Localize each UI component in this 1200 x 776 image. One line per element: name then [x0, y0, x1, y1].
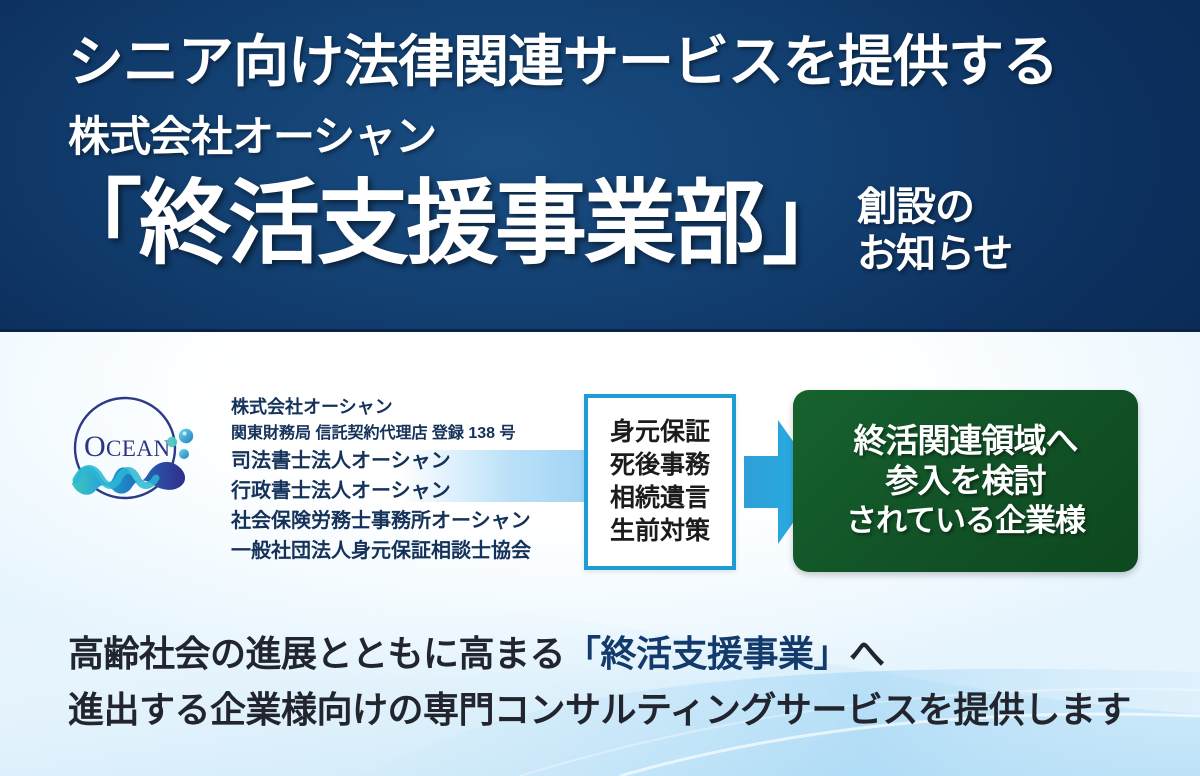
header-title-row: 「終活支援事業部」 創設の お知らせ — [50, 172, 1012, 278]
header-title-main: 「終活支援事業部」 — [50, 172, 851, 276]
services-box: 身元保証 死後事務 相続遺言 生前対策 — [584, 394, 736, 570]
service-item-postmortem: 死後事務 — [610, 449, 710, 482]
service-item-guarantee: 身元保証 — [610, 416, 710, 449]
ocean-logo-mark: O CEAN — [62, 392, 202, 507]
header-band: シニア向け法律関連サービスを提供する 株式会社オーシャン 「終活支援事業部」 創… — [0, 0, 1200, 332]
header-line-1: シニア向け法律関連サービスを提供する — [68, 30, 1058, 94]
ocean-logo: O CEAN — [62, 392, 202, 507]
svg-text:O: O — [84, 430, 106, 463]
org-line-association: 一般社団法人身元保証相談士協会 — [231, 536, 531, 566]
header-title-side: 創設の お知らせ — [857, 184, 1012, 278]
organization-list: 株式会社オーシャン 関東財務局 信託契約代理店 登録 138 号 司法書士法人オ… — [231, 394, 531, 566]
header-line-2-company: 株式会社オーシャン — [68, 112, 436, 162]
org-line-registration: 関東財務局 信託契約代理店 登録 138 号 — [231, 421, 531, 446]
target-audience-box: 終活関連領域へ 参入を検討 されている企業様 — [793, 390, 1138, 572]
service-item-inheritance: 相続遺言 — [610, 482, 710, 515]
bottom-line-1: 高齢社会の進展とともに高まる「終活支援事業」へ — [68, 626, 1188, 682]
bottom-line-1-part-a: 高齢社会の進展とともに高まる — [68, 633, 565, 674]
target-line-2: 参入を検討 — [886, 461, 1046, 501]
org-line-judicial-scrivener: 司法書士法人オーシャン — [231, 446, 531, 476]
bottom-line-1-highlight: 「終活支援事業」 — [565, 633, 849, 674]
press-release-banner: シニア向け法律関連サービスを提供する 株式会社オーシャン 「終活支援事業部」 創… — [0, 0, 1200, 776]
service-item-premortem: 生前対策 — [610, 515, 710, 548]
target-line-1: 終活関連領域へ — [854, 421, 1078, 461]
header-title-side-line-1: 創設の — [857, 184, 1012, 231]
bottom-line-2: 進出する企業様向けの専門コンサルティングサービスを提供します — [68, 682, 1188, 738]
org-line-labor-consultant: 社会保険労務士事務所オーシャン — [231, 506, 531, 536]
header-title-side-line-2: お知らせ — [857, 231, 1012, 278]
target-line-3: されている企業様 — [846, 501, 1085, 541]
org-line-company: 株式会社オーシャン — [231, 394, 531, 421]
bottom-copy: 高齢社会の進展とともに高まる「終活支援事業」へ 進出する企業様向けの専門コンサル… — [68, 626, 1188, 738]
org-line-administrative-scrivener: 行政書士法人オーシャン — [231, 476, 531, 506]
svg-text:CEAN: CEAN — [106, 436, 171, 461]
bottom-line-1-part-c: へ — [849, 633, 885, 674]
